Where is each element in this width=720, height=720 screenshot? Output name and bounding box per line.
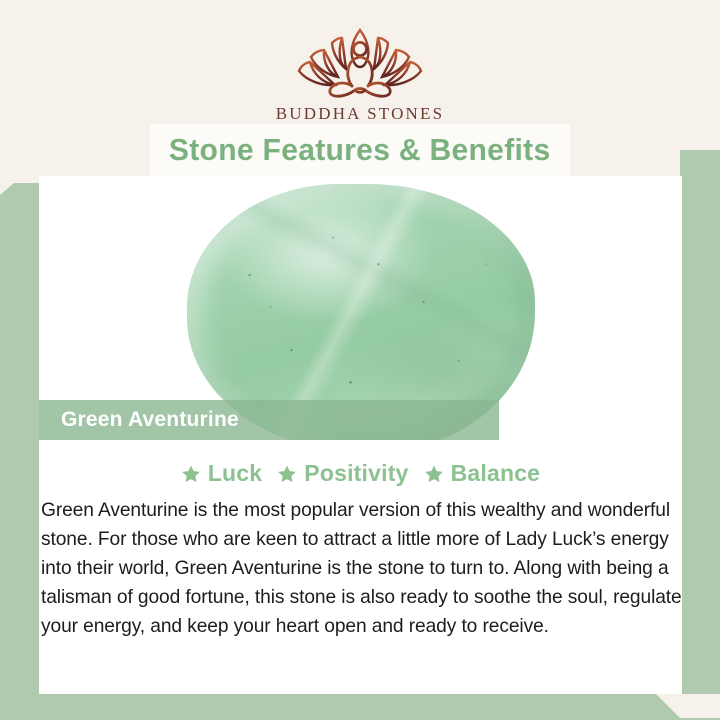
- page-background: BUDDHA STONES Stone Features & Benefits …: [0, 0, 720, 720]
- stone-name-label: Green Aventurine: [61, 408, 239, 432]
- star-icon: [277, 464, 297, 484]
- star-icon: [181, 464, 201, 484]
- benefit-label: Balance: [451, 460, 541, 487]
- benefit-item-luck: Luck: [181, 460, 262, 487]
- page-title-banner: Stone Features & Benefits: [150, 124, 570, 176]
- benefit-item-positivity: Positivity: [277, 460, 408, 487]
- benefit-label: Positivity: [304, 460, 408, 487]
- benefit-label: Luck: [208, 460, 262, 487]
- brand-logo: BUDDHA STONES: [0, 22, 720, 124]
- brand-name: BUDDHA STONES: [276, 104, 445, 124]
- stone-name-band: Green Aventurine: [39, 400, 499, 440]
- benefits-row: Luck Positivity Balance: [39, 460, 682, 487]
- description-text: Green Aventurine is the most popular ver…: [39, 496, 682, 641]
- frame-bar-right: [680, 150, 720, 694]
- frame-bar-bottom: [0, 694, 720, 720]
- lotus-meditation-icon: [280, 22, 440, 100]
- star-icon: [424, 464, 444, 484]
- page-title: Stone Features & Benefits: [169, 132, 551, 168]
- benefit-item-balance: Balance: [424, 460, 541, 487]
- content-card: Green Aventurine Luck Positivity Balan: [39, 176, 682, 694]
